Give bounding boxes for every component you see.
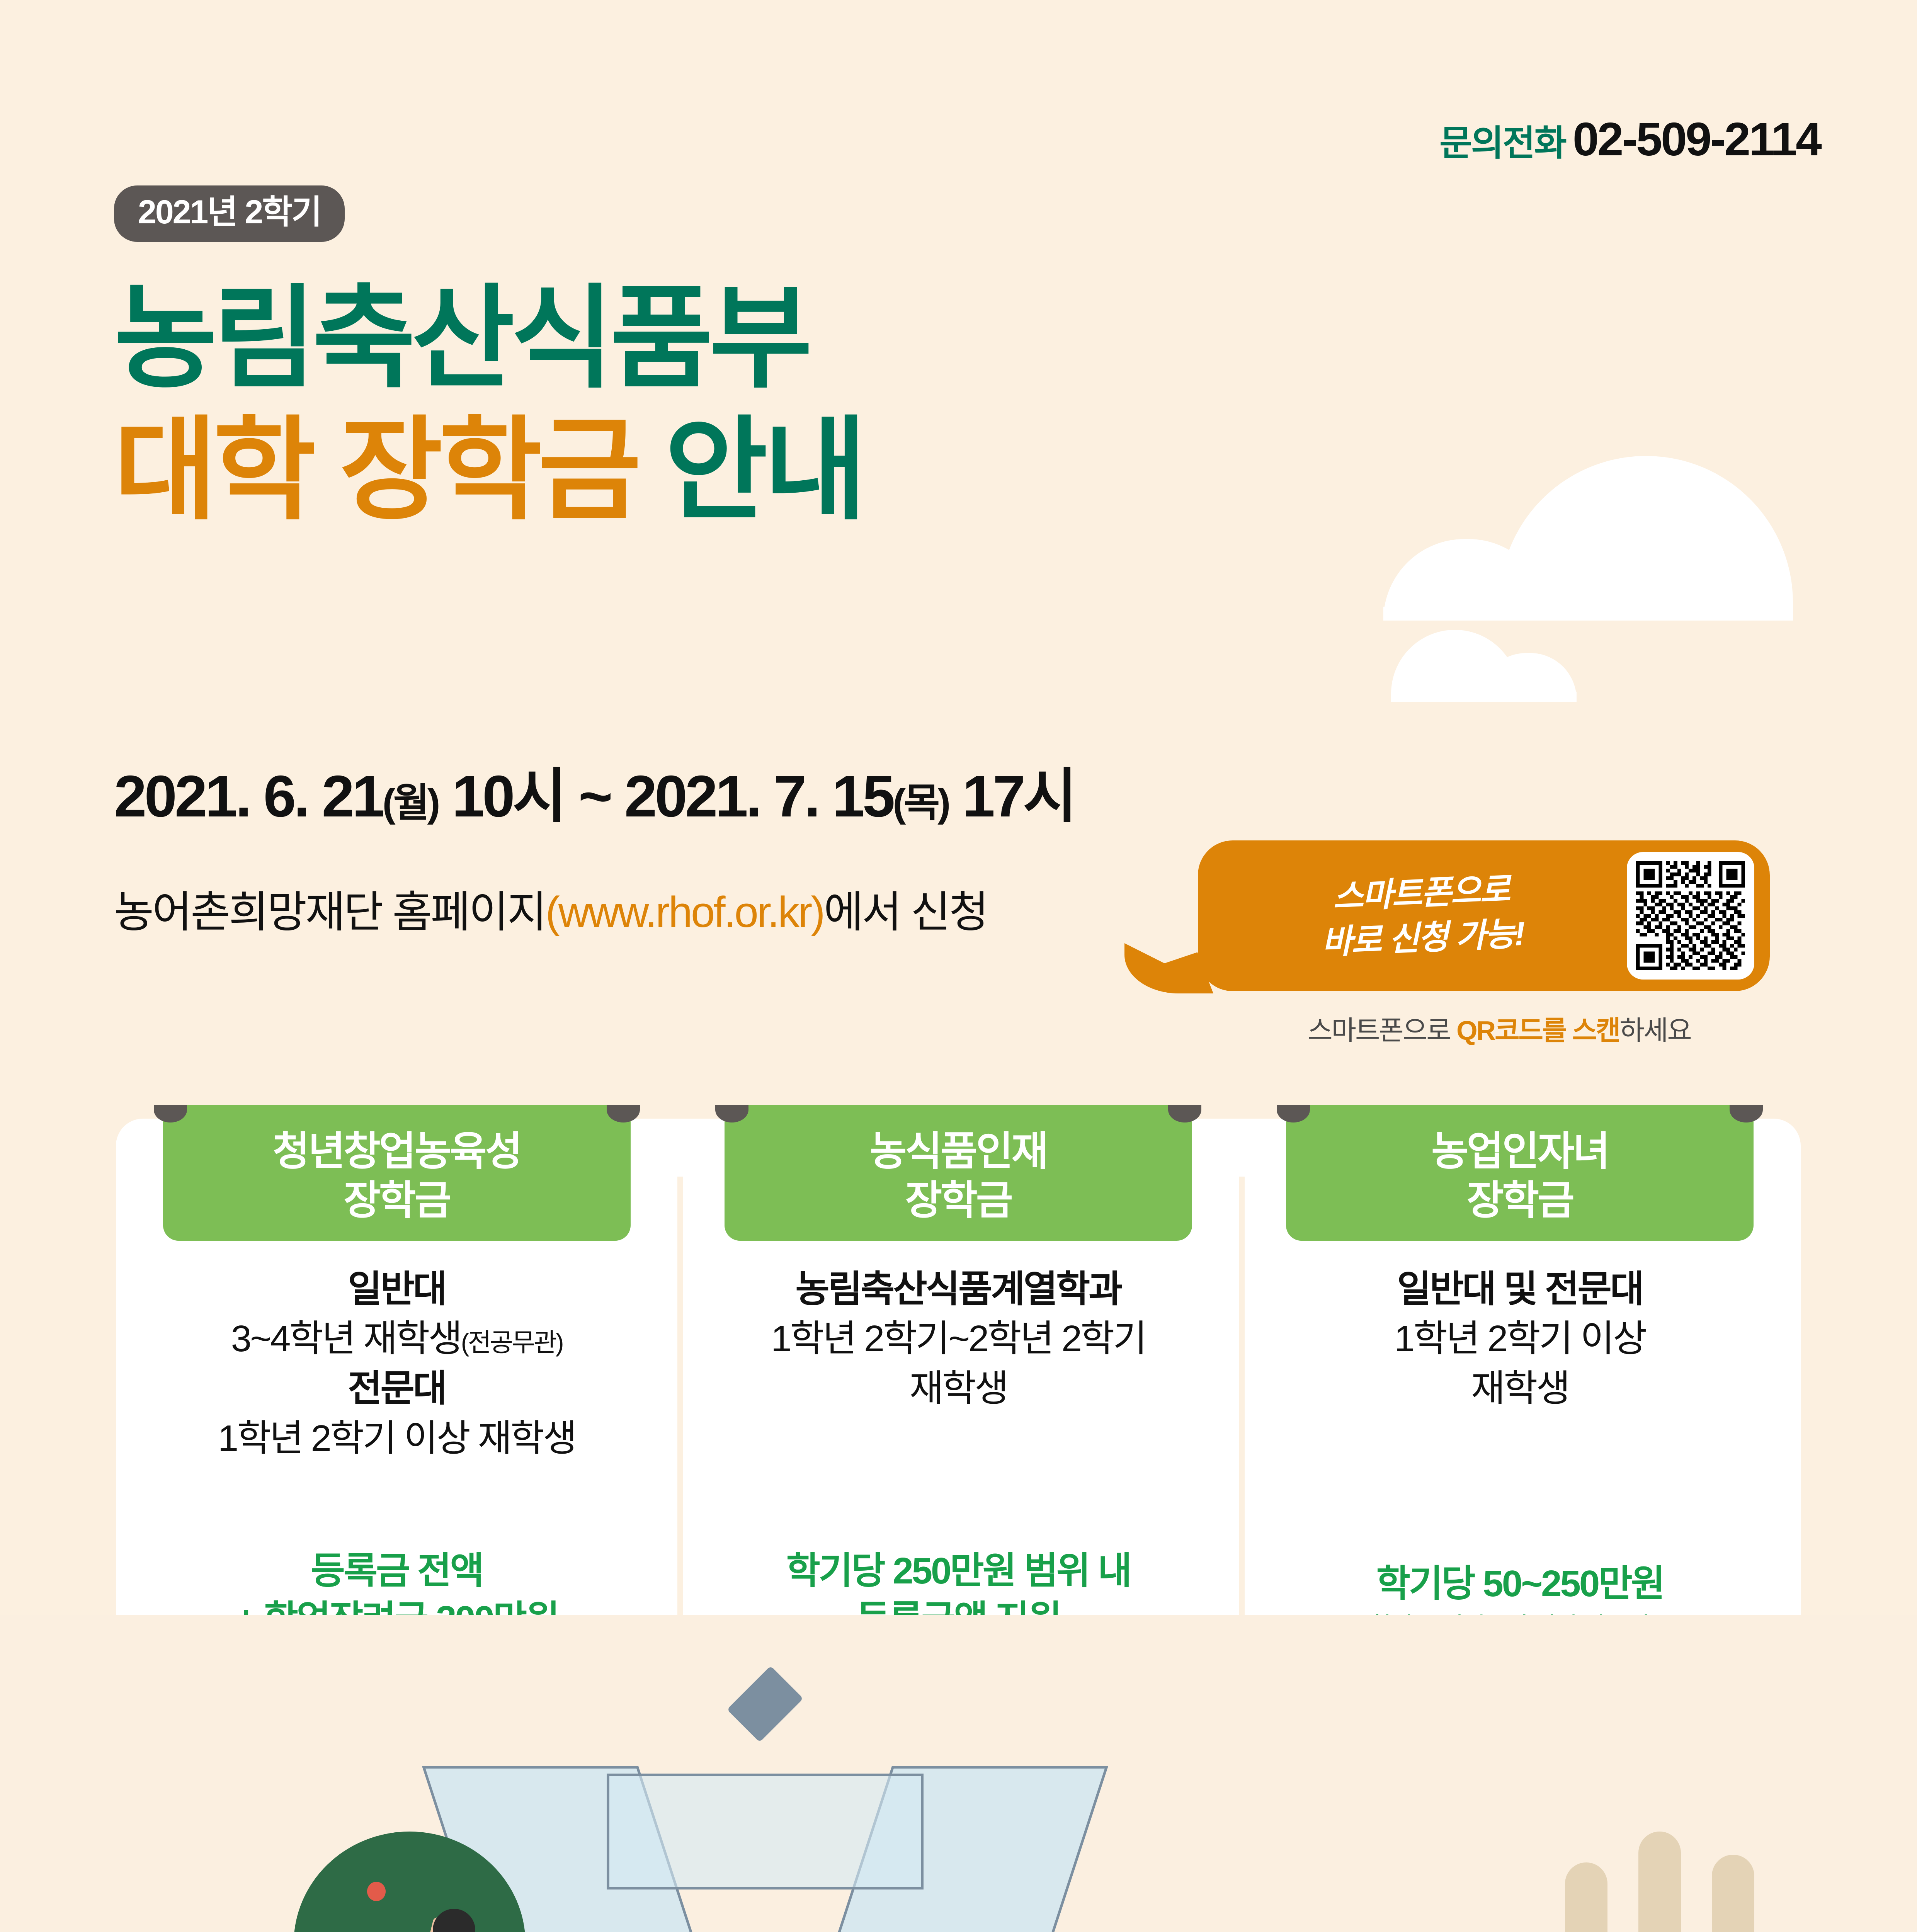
card-title-line1: 농업인자녀 — [1286, 1127, 1754, 1176]
scholarship-card-list: 청년창업농육성 장학금 일반대 3~4학년 재학생(전공무관) 전문대 1학년 … — [116, 1119, 1801, 1673]
greenhouse — [549, 1673, 981, 1932]
scholarship-card-2[interactable]: 농식품인재 장학금 농림축산식품계열학과 1학년 2학기~2학년 2학기 재학생… — [677, 1119, 1239, 1673]
farm-illustration — [0, 1615, 1917, 1932]
card-body-line: 일반대 — [218, 1265, 576, 1315]
card-title-line2: 장학금 — [725, 1176, 1192, 1225]
period-end-date: 2021. 7. 15 — [624, 764, 893, 829]
title-scholarship-text: 대학 장학금 — [114, 408, 638, 533]
qr-caption-prefix: 스마트폰으로 — [1308, 1015, 1456, 1046]
application-site-line: 농어촌희망재단 홈페이지(www.rhof.or.kr)에서 신청 — [114, 891, 987, 934]
poplar-tree — [1712, 1855, 1754, 1932]
card-header-2: 농식품인재 장학금 — [725, 1105, 1192, 1241]
poplar-tree — [1565, 1862, 1607, 1932]
poplar-tree — [1638, 1832, 1681, 1932]
contact-label: 문의전화 — [1439, 114, 1566, 166]
card-title-line1: 농식품인재 — [725, 1127, 1192, 1176]
period-start-date: 2021. 6. 21 — [114, 764, 383, 829]
scholarship-card-3[interactable]: 농업인자녀 장학금 일반대 및 전문대 1학년 2학기 이상 재학생 학기당 5… — [1239, 1119, 1801, 1673]
site-suffix: 에서 신청 — [824, 888, 987, 936]
card-body-text: 3~4학년 재학생 — [231, 1318, 461, 1359]
card-body-line: 재학생 — [771, 1364, 1146, 1414]
contact-phone: 문의전화 02-509-2114 — [1439, 112, 1820, 166]
period-end-day: (목) — [893, 781, 949, 825]
contact-number: 02-509-2114 — [1573, 112, 1820, 166]
card-body-2: 농림축산식품계열학과 1학년 2학기~2학년 2학기 재학생 — [771, 1265, 1146, 1414]
card-body-line: 1학년 2학기 이상 — [1394, 1314, 1645, 1364]
semester-badge: 2021년 2학기 — [114, 185, 345, 242]
card-body-line: 3~4학년 재학생(전공무관) — [218, 1314, 576, 1364]
qr-caption-highlight: QR코드를 스캔 — [1456, 1015, 1619, 1046]
card-title-line2: 장학금 — [163, 1176, 631, 1225]
qr-caption: 스마트폰으로 QR코드를 스캔하세요 — [1198, 1009, 1801, 1048]
title-guide-text: 안내 — [665, 408, 863, 533]
card-body-line: 1학년 2학기 이상 재학생 — [218, 1414, 576, 1464]
card-body-line: 전문대 — [218, 1364, 576, 1414]
card-amount-line1: 학기당 50~250만원 — [1362, 1560, 1677, 1608]
card-body-line: 1학년 2학기~2학년 2학기 — [771, 1314, 1146, 1364]
poster-root: 문의전화 02-509-2114 2021년 2학기 농림축산식품부 대학 장학… — [0, 0, 1917, 1932]
period-start-time: 10시 ~ — [438, 764, 624, 829]
bubble-text: 스마트폰으로 바로 신청 가능! — [1215, 862, 1628, 969]
site-url[interactable]: (www.rhof.or.kr) — [546, 888, 824, 936]
scholarship-card-1[interactable]: 청년창업농육성 장학금 일반대 3~4학년 재학생(전공무관) 전문대 1학년 … — [116, 1119, 677, 1673]
card-body-1: 일반대 3~4학년 재학생(전공무관) 전문대 1학년 2학기 이상 재학생 — [218, 1265, 576, 1464]
page-title: 농림축산식품부 대학 장학금 안내 — [114, 278, 863, 531]
apple — [367, 1882, 386, 1901]
period-start-day: (월) — [383, 781, 438, 825]
qr-speech-bubble: 스마트폰으로 바로 신청 가능! — [1198, 840, 1770, 991]
card-body-line: 농림축산식품계열학과 — [771, 1265, 1146, 1315]
card-amount-line1: 학기당 250만원 범위 내 — [786, 1547, 1131, 1595]
pin-left-icon — [154, 1105, 187, 1122]
pin-left-icon — [715, 1105, 748, 1122]
qr-code[interactable] — [1627, 852, 1754, 980]
pin-right-icon — [607, 1105, 640, 1122]
title-line-2: 대학 장학금 안내 — [114, 410, 863, 531]
pin-right-icon — [1168, 1105, 1201, 1122]
card-body-line: 재학생 — [1394, 1364, 1645, 1414]
card-title-line1: 청년창업농육성 — [163, 1127, 631, 1176]
application-period: 2021. 6. 21(월) 10시 ~ 2021. 7. 15(목) 17시 — [114, 767, 1075, 826]
card-header-1: 청년창업농육성 장학금 — [163, 1105, 631, 1241]
period-end-time: 17시 — [948, 764, 1075, 829]
qr-section: 스마트폰으로 바로 신청 가능! — [1198, 840, 1801, 1048]
card-body-sup: (전공무관) — [461, 1328, 563, 1357]
site-prefix: 농어촌희망재단 홈페이지 — [114, 888, 546, 936]
card-amount-line1: 등록금 전액 — [235, 1547, 558, 1595]
card-header-3: 농업인자녀 장학금 — [1286, 1105, 1754, 1241]
card-body-3: 일반대 및 전문대 1학년 2학기 이상 재학생 — [1394, 1265, 1645, 1414]
pin-right-icon — [1730, 1105, 1763, 1122]
pin-left-icon — [1277, 1105, 1310, 1122]
qr-code-icon — [1636, 861, 1745, 970]
title-line-1: 농림축산식품부 — [114, 278, 863, 399]
card-body-line: 일반대 및 전문대 — [1394, 1265, 1645, 1315]
qr-caption-suffix: 하세요 — [1620, 1015, 1691, 1046]
card-title-line2: 장학금 — [1286, 1176, 1754, 1225]
